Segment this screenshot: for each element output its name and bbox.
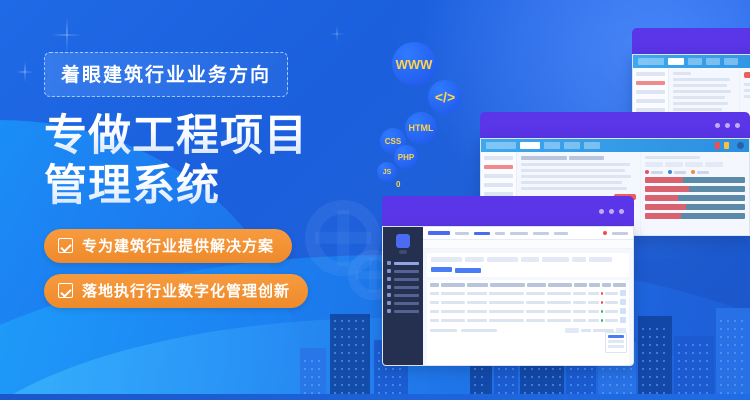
chart-panel — [640, 152, 749, 235]
filter-select[interactable] — [542, 257, 569, 262]
table-row — [430, 317, 626, 323]
table-row — [430, 308, 626, 314]
sidebar-item[interactable] — [383, 307, 423, 315]
search-button[interactable] — [431, 267, 452, 272]
tech-bubble-label: PHP — [398, 153, 414, 162]
home-icon — [387, 261, 391, 265]
filter-label — [572, 257, 586, 262]
feature-pill-list: 专为建筑行业提供解决方案 落地执行行业数字化管理创新 — [44, 229, 344, 308]
avatar[interactable] — [737, 142, 744, 149]
sidebar-item-active[interactable] — [484, 165, 513, 169]
table-row — [521, 163, 630, 166]
row-action-button[interactable] — [620, 308, 626, 314]
app-tabbar[interactable] — [481, 139, 749, 152]
tech-tag-zero: 0 — [396, 180, 400, 189]
notification-badge[interactable] — [603, 231, 607, 235]
nav-item[interactable] — [495, 232, 505, 235]
data-table — [427, 280, 629, 365]
sidebar-item[interactable] — [484, 174, 513, 178]
table-header-row — [430, 283, 626, 287]
promo-banner: 着眼建筑行业业务方向 专做工程项目 管理系统 专为建筑行业提供解决方案 落地执行… — [0, 0, 750, 400]
nav-item[interactable] — [510, 232, 528, 235]
status-badge — [601, 319, 604, 322]
window-titlebar[interactable] — [480, 112, 750, 138]
doc-icon — [387, 301, 391, 305]
window-dot-icon — [715, 123, 720, 128]
nav-item[interactable] — [455, 232, 469, 235]
sidebar-subtitle — [399, 250, 407, 254]
feature-pill-1-label: 专为建筑行业提供解决方案 — [82, 235, 274, 256]
table-row — [430, 290, 626, 296]
sparkle-icon — [16, 62, 34, 82]
sparkle-icon — [330, 26, 344, 42]
window-dot-icon — [599, 209, 604, 214]
list-item — [673, 84, 727, 87]
tech-bubble-php: PHP — [394, 145, 418, 169]
kpi-row — [645, 162, 745, 167]
filter-label — [431, 257, 462, 262]
tab-item[interactable] — [724, 58, 738, 65]
tab-item[interactable] — [706, 58, 720, 65]
sidebar-item[interactable] — [636, 90, 665, 94]
list-item — [673, 78, 730, 81]
users-icon — [387, 293, 391, 297]
add-button[interactable] — [455, 268, 480, 273]
sidebar-item[interactable] — [383, 299, 423, 307]
table-header-row — [521, 156, 636, 160]
legend-swatch — [668, 170, 672, 174]
window-body — [382, 226, 634, 366]
row-action-button[interactable] — [620, 290, 626, 296]
menu-item[interactable] — [608, 345, 624, 348]
sidebar-item[interactable] — [383, 291, 423, 299]
app-tabbar[interactable] — [633, 55, 750, 68]
window-titlebar[interactable] — [382, 196, 634, 226]
table-footer-row — [430, 328, 626, 333]
checkbox-check-icon — [58, 238, 73, 253]
notification-badge[interactable] — [715, 142, 720, 149]
list-item — [673, 108, 722, 111]
list-icon — [387, 277, 391, 281]
chart-icon — [387, 285, 391, 289]
app-topbar[interactable] — [423, 227, 633, 240]
status-badge — [601, 301, 604, 304]
tech-bubble-js: JS — [377, 162, 397, 182]
tech-bubble-www: WWW — [392, 42, 436, 86]
checkbox-check-icon — [58, 283, 73, 298]
window-dot-icon — [725, 123, 730, 128]
folder-icon — [387, 269, 391, 273]
code-brackets-icon: </> — [435, 89, 455, 105]
tech-bubble-code: </> — [428, 80, 462, 114]
row-action-button[interactable] — [620, 299, 626, 305]
tab-item[interactable] — [544, 142, 560, 149]
gear-icon — [387, 309, 391, 313]
sidebar-item[interactable] — [383, 267, 423, 275]
sidebar-item-active[interactable] — [383, 259, 423, 267]
tab-item[interactable] — [688, 58, 702, 65]
filter-select[interactable] — [465, 257, 484, 262]
sidebar-item[interactable] — [383, 283, 423, 291]
window-titlebar[interactable] — [632, 28, 750, 54]
sidebar[interactable] — [383, 227, 423, 365]
tech-bubble-label: CSS — [385, 137, 401, 146]
stacked-bar — [645, 213, 745, 219]
tab-item[interactable] — [584, 142, 600, 149]
status-badge — [601, 310, 604, 313]
stacked-bar — [645, 186, 745, 192]
app-logo — [638, 58, 664, 65]
list-item — [673, 96, 725, 99]
nav-item-active[interactable] — [474, 232, 490, 235]
project-list-window[interactable] — [382, 196, 634, 366]
pagination-page[interactable] — [565, 328, 579, 333]
delete-button[interactable] — [744, 72, 750, 78]
filter-bar[interactable] — [427, 253, 629, 277]
window-dot-icon — [619, 209, 624, 214]
table-row — [521, 169, 625, 172]
list-item — [673, 90, 731, 93]
table-row — [521, 187, 627, 190]
search-input[interactable] — [589, 257, 612, 262]
list-item — [673, 102, 728, 105]
window-dot-icon — [735, 123, 740, 128]
subtitle-text: 着眼建筑行业业务方向 — [61, 60, 271, 87]
subtitle-box: 着眼建筑行业业务方向 — [44, 52, 288, 97]
filter-select[interactable] — [487, 257, 518, 262]
window-dot-icon — [609, 209, 614, 214]
sidebar-item[interactable] — [484, 156, 513, 160]
window-panel — [423, 227, 633, 365]
sidebar-item[interactable] — [636, 72, 665, 76]
nav-item[interactable] — [533, 232, 549, 235]
tab-item[interactable] — [564, 142, 580, 149]
tech-bubble-label: WWW — [396, 57, 433, 72]
legend-swatch — [645, 170, 649, 174]
sidebar-item[interactable] — [484, 183, 513, 187]
table-row — [430, 299, 626, 305]
status-badge — [601, 292, 604, 295]
table-row — [521, 181, 622, 184]
bottom-strip — [0, 394, 750, 400]
headline-line-1: 专做工程项目 — [44, 111, 344, 161]
tech-bubble-label: HTML — [409, 123, 434, 133]
app-logo-icon — [396, 234, 410, 248]
tab-active[interactable] — [520, 142, 540, 149]
status-dot-icon — [724, 142, 729, 149]
stacked-bar — [645, 177, 745, 183]
menu-item-active[interactable] — [608, 335, 624, 338]
stacked-bar — [645, 195, 745, 201]
tech-bubble-label: JS — [383, 169, 392, 176]
row-action-button[interactable] — [620, 317, 626, 323]
chart-legend — [645, 170, 745, 174]
tech-bubble-html: HTML — [405, 112, 437, 144]
menu-item[interactable] — [608, 340, 624, 343]
sidebar-item[interactable] — [383, 275, 423, 283]
feature-pill-1[interactable]: 专为建筑行业提供解决方案 — [44, 229, 292, 263]
app-logo — [486, 142, 516, 149]
sidebar-item[interactable] — [636, 99, 665, 103]
row-action-menu[interactable] — [605, 332, 627, 353]
filter-select[interactable] — [521, 257, 538, 262]
stacked-bar — [645, 204, 745, 210]
headline: 专做工程项目 管理系统 — [44, 111, 344, 211]
user-menu[interactable] — [612, 232, 628, 235]
table-row — [521, 175, 631, 178]
breadcrumb — [423, 240, 633, 249]
feature-pill-2-label: 落地执行行业数字化管理创新 — [82, 280, 290, 301]
sidebar-item-active[interactable] — [636, 81, 665, 85]
nav-item[interactable] — [554, 232, 568, 235]
feature-pill-2[interactable]: 落地执行行业数字化管理创新 — [44, 274, 308, 308]
banner-copy: 着眼建筑行业业务方向 专做工程项目 管理系统 专为建筑行业提供解决方案 落地执行… — [44, 52, 344, 319]
legend-swatch — [691, 170, 695, 174]
app-title — [428, 231, 450, 235]
sparkle-icon — [52, 18, 82, 52]
headline-line-2: 管理系统 — [44, 161, 344, 211]
tab-active[interactable] — [668, 58, 684, 65]
